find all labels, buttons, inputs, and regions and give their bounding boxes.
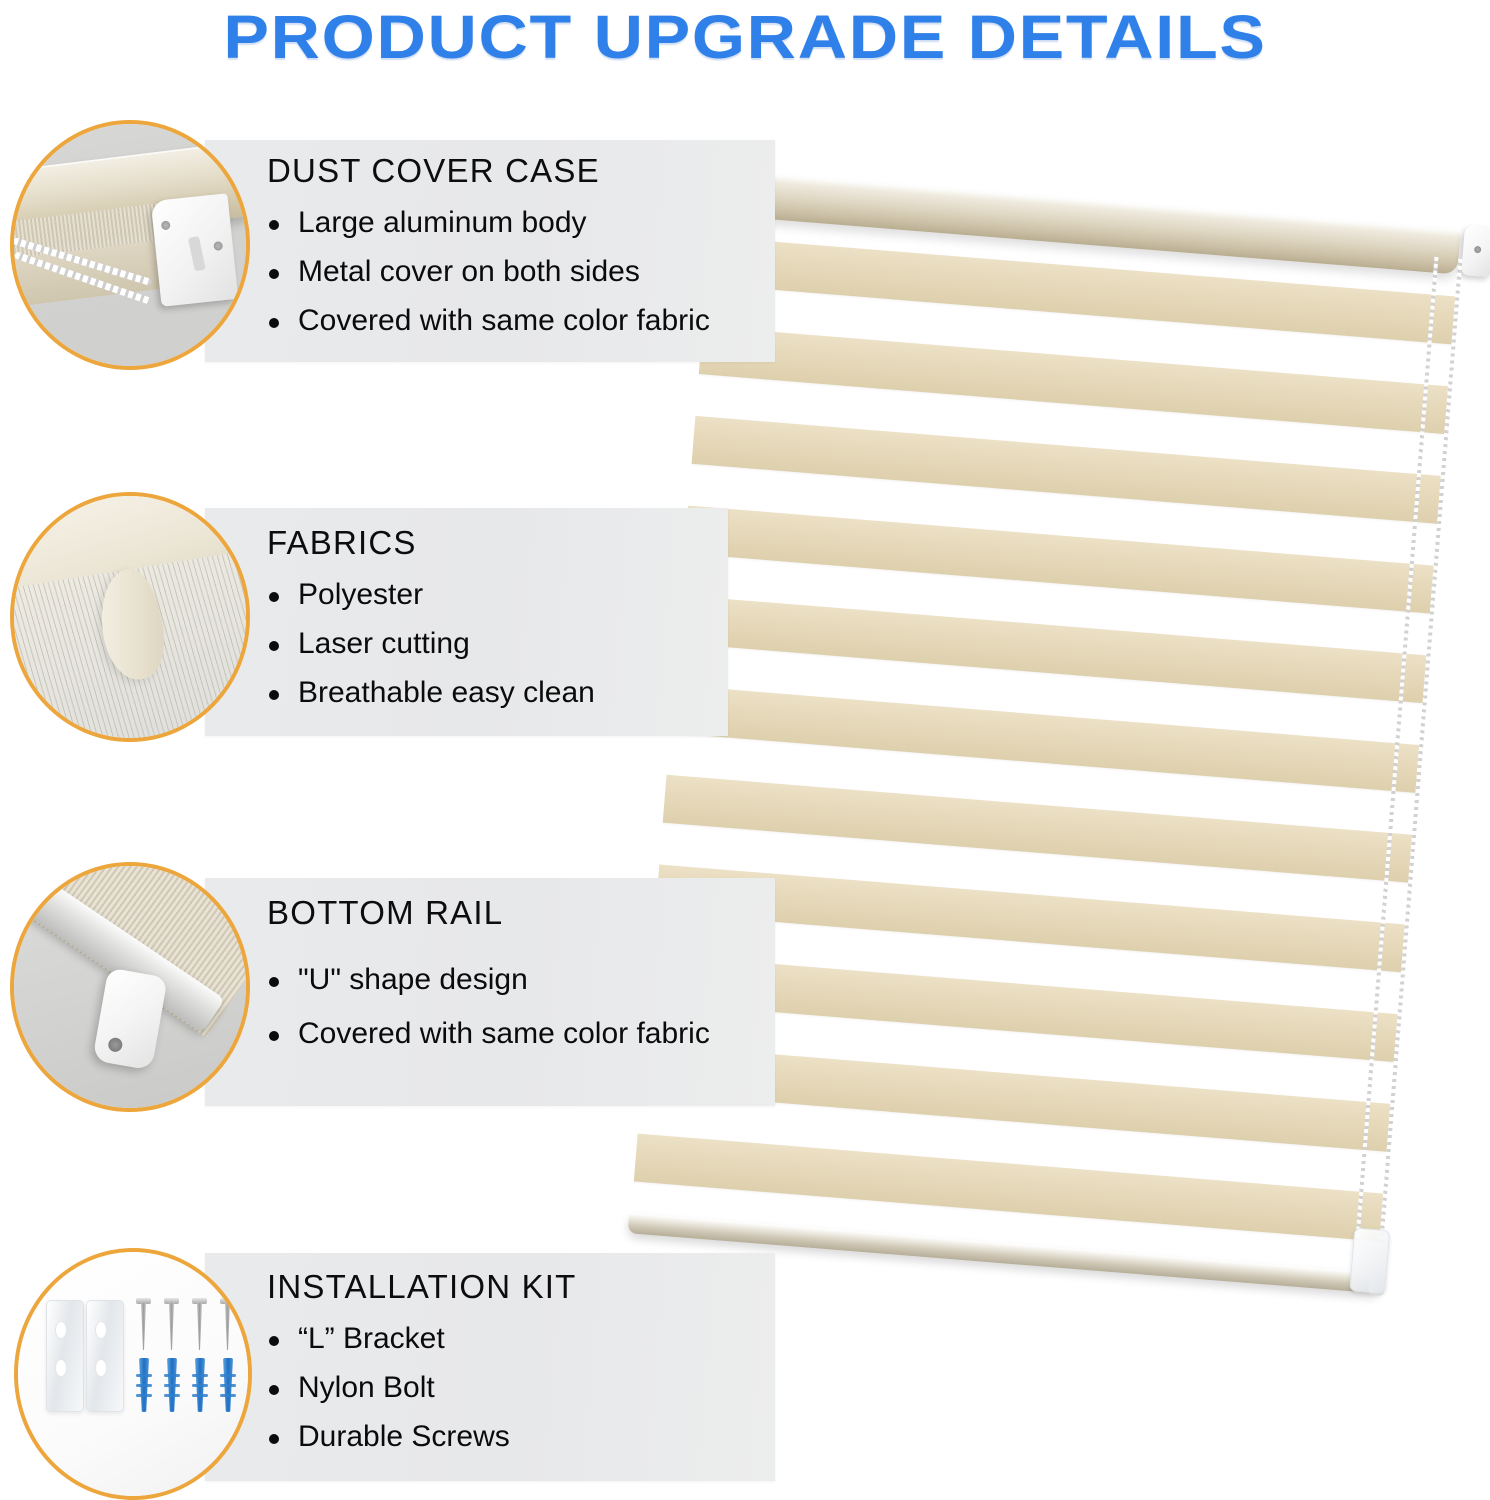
list-item: Covered with same color fabric	[267, 306, 787, 336]
feature-bullets-installation-kit: “L” Bracket Nylon Bolt Durable Screws	[267, 1324, 787, 1452]
bullet-dot-icon	[269, 641, 279, 651]
bullet-dot-icon	[269, 269, 279, 279]
bullet-dot-icon	[269, 220, 279, 230]
list-item: Durable Screws	[267, 1422, 787, 1452]
screw-icon	[196, 1298, 203, 1350]
feature-title-dust-cover-case: DUST COVER CASE	[267, 152, 600, 190]
wall-anchor-icon	[164, 1358, 180, 1412]
infographic-canvas: PRODUCT UPGRADE DETAILS	[0, 0, 1490, 1500]
page-title: PRODUCT UPGRADE DETAILS	[0, 2, 1490, 72]
bullet-dot-icon	[269, 690, 279, 700]
screw-icon	[224, 1298, 231, 1350]
feature-title-fabrics: FABRICS	[267, 524, 417, 562]
feature-title-bottom-rail: BOTTOM RAIL	[267, 894, 503, 932]
screw-icon	[168, 1298, 175, 1350]
list-item: Large aluminum body	[267, 208, 787, 238]
bullet-dot-icon	[269, 977, 279, 987]
screw-icon	[140, 1298, 147, 1350]
list-item: “L” Bracket	[267, 1324, 787, 1354]
wall-anchor-icon	[220, 1358, 236, 1412]
dust-cover-case-photo	[10, 120, 250, 370]
bullet-dot-icon	[269, 592, 279, 602]
bullet-dot-icon	[269, 1385, 279, 1395]
bullet-dot-icon	[269, 1031, 279, 1041]
fabrics-photo	[10, 492, 250, 742]
feature-bullets-dust-cover-case: Large aluminum body Metal cover on both …	[267, 208, 787, 336]
list-item: Nylon Bolt	[267, 1373, 787, 1403]
wall-anchor-icon	[136, 1358, 152, 1412]
dust-cover-end-cap	[1461, 225, 1490, 277]
wall-anchor-icon	[192, 1358, 208, 1412]
zebra-roller-blind-image	[690, 215, 1490, 1355]
feature-bullets-fabrics: Polyester Laser cutting Breathable easy …	[267, 580, 727, 708]
list-item: "U" shape design	[267, 965, 787, 995]
l-bracket-icon	[46, 1300, 84, 1412]
list-item: Laser cutting	[267, 629, 727, 659]
list-item: Covered with same color fabric	[267, 1019, 787, 1049]
feature-title-installation-kit: INSTALLATION KIT	[267, 1268, 577, 1306]
cord-tensioner[interactable]	[1349, 1227, 1390, 1294]
feature-bullets-bottom-rail: "U" shape design Covered with same color…	[267, 965, 787, 1049]
bullet-dot-icon	[269, 1434, 279, 1444]
list-item: Polyester	[267, 580, 727, 610]
list-item: Metal cover on both sides	[267, 257, 787, 287]
list-item: Breathable easy clean	[267, 678, 727, 708]
bottom-rail-photo	[10, 862, 250, 1112]
bullet-dot-icon	[269, 1336, 279, 1346]
l-bracket-icon	[86, 1300, 124, 1412]
striped-fabric	[631, 215, 1458, 1282]
bullet-dot-icon	[269, 318, 279, 328]
installation-kit-photo	[14, 1248, 252, 1500]
